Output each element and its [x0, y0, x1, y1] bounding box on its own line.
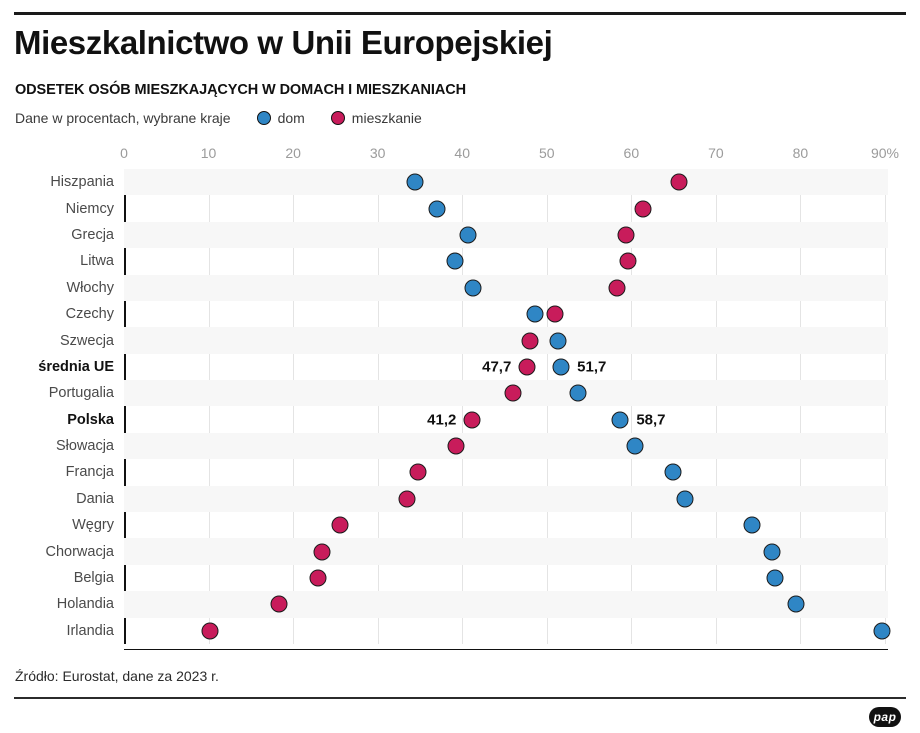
table-row: Irlandia [0, 618, 920, 644]
row-band [124, 407, 888, 433]
row-label-niemcy: Niemcy [66, 201, 114, 217]
data-point-mieszkanie[interactable] [270, 596, 287, 613]
row-band [124, 433, 888, 459]
row-band [124, 275, 888, 301]
data-point-mieszkanie[interactable] [202, 622, 219, 639]
data-point-dom[interactable] [460, 226, 477, 243]
legend-label-mieszkanie: mieszkanie [352, 110, 422, 126]
row-label-litwa: Litwa [80, 253, 114, 269]
data-point-dom[interactable] [873, 622, 890, 639]
bottom-divider [14, 697, 906, 699]
table-row: Węgry [0, 512, 920, 538]
row-band [124, 591, 888, 617]
row-band [124, 248, 888, 274]
data-point-dom[interactable] [763, 543, 780, 560]
value-label: 58,7 [636, 411, 665, 428]
data-point-dom[interactable] [465, 279, 482, 296]
legend-item-dom: dom [257, 110, 305, 126]
row-label-irlandia: Irlandia [66, 623, 114, 639]
x-axis-tick: 80 [793, 145, 809, 161]
row-label-włochy: Włochy [66, 280, 114, 296]
pap-logo: pap [869, 707, 901, 727]
table-row: Grecja [0, 222, 920, 248]
legend-dot-dom [257, 111, 271, 125]
data-point-mieszkanie[interactable] [399, 490, 416, 507]
row-band [124, 512, 888, 538]
row-band [124, 486, 888, 512]
table-row: Polska41,258,7 [0, 407, 920, 433]
x-axis-tick: 50 [539, 145, 555, 161]
x-axis-tick: 20 [285, 145, 301, 161]
row-band [124, 327, 888, 353]
table-row: Belgia [0, 565, 920, 591]
data-point-mieszkanie[interactable] [309, 570, 326, 587]
dot-plot-chart: 0102030405060708090% HiszpaniaNiemcyGrec… [0, 145, 920, 650]
row-label-francja: Francja [66, 464, 114, 480]
value-label: 51,7 [577, 358, 606, 375]
x-axis-tick: 90% [871, 145, 899, 161]
data-point-dom[interactable] [428, 200, 445, 217]
data-point-dom[interactable] [570, 385, 587, 402]
row-band [124, 618, 888, 644]
row-label-średnia-ue: średnia UE [38, 359, 114, 375]
data-point-mieszkanie[interactable] [313, 543, 330, 560]
x-axis-tick: 0 [120, 145, 128, 161]
top-divider [14, 12, 906, 15]
data-point-dom[interactable] [767, 570, 784, 587]
infographic-page: Mieszkalnictwo w Unii Europejskiej ODSET… [0, 0, 920, 733]
data-point-mieszkanie[interactable] [635, 200, 652, 217]
data-point-mieszkanie[interactable] [448, 438, 465, 455]
source-note: Źródło: Eurostat, dane za 2023 r. [15, 668, 219, 684]
axis-baseline [124, 649, 888, 651]
data-point-dom[interactable] [744, 517, 761, 534]
row-label-szwecja: Szwecja [60, 333, 114, 349]
row-label-grecja: Grecja [71, 227, 114, 243]
plot-rows: HiszpaniaNiemcyGrecjaLitwaWłochyCzechySz… [0, 169, 920, 644]
data-point-mieszkanie[interactable] [521, 332, 538, 349]
data-point-dom[interactable] [526, 306, 543, 323]
row-label-portugalia: Portugalia [49, 385, 114, 401]
value-label: 47,7 [482, 358, 511, 375]
data-point-dom[interactable] [612, 411, 629, 428]
table-row: Szwecja [0, 327, 920, 353]
row-band [124, 459, 888, 485]
table-row: Portugalia [0, 380, 920, 406]
data-point-mieszkanie[interactable] [670, 174, 687, 191]
row-band [124, 195, 888, 221]
row-label-polska: Polska [67, 412, 114, 428]
row-label-dania: Dania [76, 491, 114, 507]
row-label-węgry: Węgry [72, 517, 114, 533]
data-point-mieszkanie[interactable] [504, 385, 521, 402]
data-point-mieszkanie[interactable] [619, 253, 636, 270]
row-label-chorwacja: Chorwacja [46, 544, 115, 560]
data-point-mieszkanie[interactable] [331, 517, 348, 534]
data-point-dom[interactable] [788, 596, 805, 613]
data-point-mieszkanie[interactable] [618, 226, 635, 243]
row-band [124, 222, 888, 248]
table-row: Niemcy [0, 195, 920, 221]
row-band [124, 169, 888, 195]
table-row: Holandia [0, 591, 920, 617]
table-row: Włochy [0, 275, 920, 301]
page-title: Mieszkalnictwo w Unii Europejskiej [14, 24, 552, 62]
data-note: Dane w procentach, wybrane kraje [15, 110, 231, 126]
data-point-mieszkanie[interactable] [519, 358, 536, 375]
legend-dot-mieszkanie [331, 111, 345, 125]
table-row: Hiszpania [0, 169, 920, 195]
x-axis-tick: 70 [708, 145, 724, 161]
x-axis: 0102030405060708090% [0, 145, 920, 169]
x-axis-tick: 10 [201, 145, 217, 161]
x-axis-tick: 60 [624, 145, 640, 161]
table-row: Francja [0, 459, 920, 485]
table-row: Słowacja [0, 433, 920, 459]
data-point-dom[interactable] [549, 332, 566, 349]
data-point-mieszkanie[interactable] [410, 464, 427, 481]
table-row: Litwa [0, 248, 920, 274]
legend-item-mieszkanie: mieszkanie [331, 110, 422, 126]
table-row: Dania [0, 486, 920, 512]
data-point-dom[interactable] [664, 464, 681, 481]
data-point-dom[interactable] [553, 358, 570, 375]
x-axis-tick: 40 [454, 145, 470, 161]
row-label-belgia: Belgia [74, 570, 114, 586]
page-subtitle: ODSETEK OSÓB MIESZKAJĄCYCH W DOMACH I MI… [15, 82, 466, 98]
row-label-holandia: Holandia [57, 596, 114, 612]
data-point-dom[interactable] [626, 438, 643, 455]
data-point-dom[interactable] [406, 174, 423, 191]
value-label: 41,2 [427, 411, 456, 428]
legend: Dane w procentach, wybrane kraje dom mie… [15, 108, 422, 128]
table-row: Chorwacja [0, 538, 920, 564]
data-point-dom[interactable] [677, 490, 694, 507]
table-row: Czechy [0, 301, 920, 327]
legend-label-dom: dom [278, 110, 305, 126]
row-label-czechy: Czechy [66, 306, 114, 322]
data-point-mieszkanie[interactable] [608, 279, 625, 296]
data-point-dom[interactable] [446, 253, 463, 270]
data-point-mieszkanie[interactable] [547, 306, 564, 323]
table-row: średnia UE47,751,7 [0, 354, 920, 380]
row-label-słowacja: Słowacja [56, 438, 114, 454]
row-label-hiszpania: Hiszpania [50, 174, 114, 190]
row-band [124, 301, 888, 327]
data-point-mieszkanie[interactable] [464, 411, 481, 428]
x-axis-tick: 30 [370, 145, 386, 161]
